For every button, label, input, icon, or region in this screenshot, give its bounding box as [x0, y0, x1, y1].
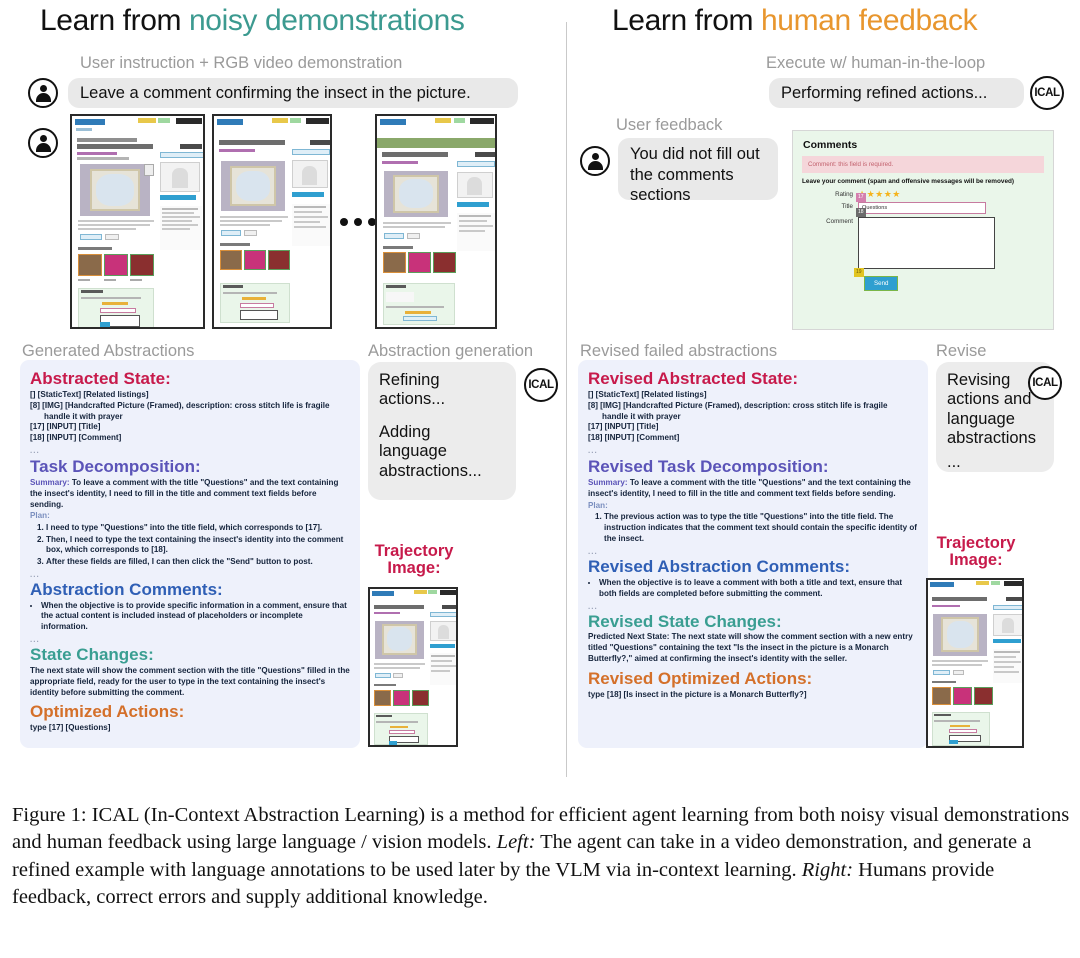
revised-comments-body: When the objective is to leave a comment… — [588, 578, 918, 600]
ical-badge-right: ICAL — [1028, 366, 1062, 400]
revised-comments-ellipsis: ... — [588, 602, 918, 611]
trajectory-label-right: Trajectory Image: — [926, 535, 1026, 570]
execute-label: Execute w/ human-in-the-loop — [766, 54, 985, 73]
caption-right-emphasis: Right: — [802, 859, 853, 881]
demo-frame-2 — [212, 114, 332, 329]
note-line: language — [947, 410, 1043, 429]
revised-state-ellipsis: ... — [588, 446, 918, 455]
user-feedback-label: User feedback — [616, 116, 722, 135]
optimized-actions-body: type [17] [Questions] — [30, 723, 350, 734]
caption-left-emphasis: Left: — [497, 831, 536, 853]
trajectory-image-right — [926, 578, 1024, 748]
revised-comments-heading: Revised Abstraction Comments: — [588, 558, 918, 576]
plan-item: Then, I need to type the text containing… — [46, 535, 350, 557]
user-instruction-label: User instruction + RGB video demonstrati… — [80, 54, 402, 73]
demo-frame-1 — [70, 114, 205, 329]
abstraction-comments-body: When the objective is to provide specifi… — [30, 601, 350, 634]
figure-container: Learn from noisy demonstrations User ins… — [0, 0, 1080, 795]
frames-ellipsis — [340, 218, 376, 226]
state-changes-heading: State Changes: — [30, 646, 350, 664]
revised-state-body: [] [StaticText] [Related listings] [8] [… — [588, 390, 918, 444]
revised-plan-list: The previous action was to type the titl… — [588, 512, 918, 545]
comments-heading: Comments — [803, 139, 1044, 151]
tag-18: 18 — [856, 208, 866, 217]
revised-task-heading: Revised Task Decomposition: — [588, 458, 918, 476]
title-input[interactable]: Questions — [858, 202, 986, 214]
state-ellipsis: ... — [30, 446, 350, 455]
revise-label: Revise — [936, 342, 986, 361]
trajectory-label-left: Trajectory Image: — [368, 543, 460, 578]
comment-row: Comment 18 19 — [802, 217, 1044, 269]
note-line: abstractions — [947, 429, 1043, 448]
left-title-plain: Learn from — [40, 4, 189, 37]
comment-bullet: When the objective is to leave a comment… — [599, 578, 918, 600]
user-feedback-bubble: You did not fill out the comments sectio… — [618, 138, 778, 200]
execute-bubble: Performing refined actions... — [769, 78, 1024, 108]
comment-label: Comment — [802, 217, 858, 225]
right-title-plain: Learn from — [612, 4, 761, 37]
abstraction-generation-note: Refining actions... Adding language abst… — [368, 362, 516, 500]
feedback-avatar-icon — [580, 146, 610, 176]
rating-row: Rating ★★★★★ — [802, 190, 1044, 199]
state-changes-body: The next state will show the comment sec… — [30, 666, 350, 699]
generated-abstraction-card: Abstracted State: [] [StaticText] [Relat… — [20, 360, 360, 748]
note-line: Refining — [379, 371, 505, 390]
comment-bullet: When the objective is to provide specifi… — [41, 601, 350, 634]
note-line: ... — [947, 453, 1043, 472]
plan-list: I need to type "Questions" into the titl… — [30, 523, 350, 567]
comment-textarea[interactable] — [858, 217, 995, 269]
demo-avatar-icon — [28, 128, 58, 158]
abstracted-state-body: [] [StaticText] [Related listings] [8] [… — [30, 390, 350, 444]
right-panel-title: Learn from human feedback — [612, 4, 977, 38]
revised-abstractions-label: Revised failed abstractions — [580, 342, 777, 361]
comments-form-mock: Comments Comment: this field is required… — [792, 130, 1054, 330]
left-title-accent: noisy demonstrations — [189, 4, 464, 37]
ical-badge-left: ICAL — [524, 368, 558, 402]
right-title-accent: human feedback — [761, 4, 977, 37]
title-label: Title — [802, 202, 858, 210]
note-line: actions... — [379, 390, 505, 409]
comments-lead-text: Leave your comment (spam and offensive m… — [802, 178, 1044, 185]
revised-state-heading: Revised Abstracted State: — [588, 370, 918, 388]
revised-actions-heading: Revised Optimized Actions: — [588, 670, 918, 688]
plan-item: The previous action was to type the titl… — [604, 512, 918, 545]
figure-caption: Figure 1: ICAL (In-Context Abstraction L… — [12, 802, 1072, 911]
task-ellipsis: ... — [30, 570, 350, 579]
plan-item: I need to type "Questions" into the titl… — [46, 523, 350, 534]
right-panel: Learn from human feedback Execute w/ hum… — [566, 0, 1080, 795]
trajectory-image-left — [368, 587, 458, 747]
user-instruction-bubble: Leave a comment confirming the insect in… — [68, 78, 518, 108]
abstraction-comments-heading: Abstraction Comments: — [30, 581, 350, 599]
tag-19: 19 — [854, 268, 864, 277]
tag-17: 17 — [856, 193, 866, 202]
optimized-actions-heading: Optimized Actions: — [30, 703, 350, 721]
left-panel-title: Learn from noisy demonstrations — [40, 4, 464, 38]
ical-badge-execute: ICAL — [1030, 76, 1064, 110]
left-panel: Learn from noisy demonstrations User ins… — [0, 0, 566, 795]
plan-item: After these fields are filled, I can the… — [46, 557, 350, 568]
note-line: Adding — [379, 423, 505, 442]
comments-error-message: Comment: this field is required. — [802, 156, 1044, 173]
note-line: actions and — [947, 390, 1043, 409]
note-line: language — [379, 442, 505, 461]
note-line: abstractions... — [379, 462, 505, 481]
task-decomposition-heading: Task Decomposition: — [30, 458, 350, 476]
revised-changes-body: Predicted Next State: The next state wil… — [588, 632, 918, 665]
user-avatar-icon — [28, 78, 58, 108]
revised-abstraction-card: Revised Abstracted State: [] [StaticText… — [578, 360, 928, 748]
generated-abstractions-label: Generated Abstractions — [22, 342, 194, 361]
rating-label: Rating — [802, 190, 858, 198]
revised-task-ellipsis: ... — [588, 547, 918, 556]
revised-task-body: Summary: To leave a comment with the tit… — [588, 478, 918, 545]
title-row: Title 17 Questions — [802, 202, 1044, 214]
abstraction-generation-label: Abstraction generation — [368, 342, 533, 361]
comments-ellipsis: ... — [30, 635, 350, 644]
task-decomposition-body: Summary: To leave a comment with the tit… — [30, 478, 350, 568]
revised-actions-body: type [18] [Is insect in the picture is a… — [588, 690, 918, 701]
revised-changes-heading: Revised State Changes: — [588, 613, 918, 631]
send-button[interactable]: Send — [864, 276, 898, 291]
demo-frame-3 — [375, 114, 497, 329]
abstracted-state-heading: Abstracted State: — [30, 370, 350, 388]
